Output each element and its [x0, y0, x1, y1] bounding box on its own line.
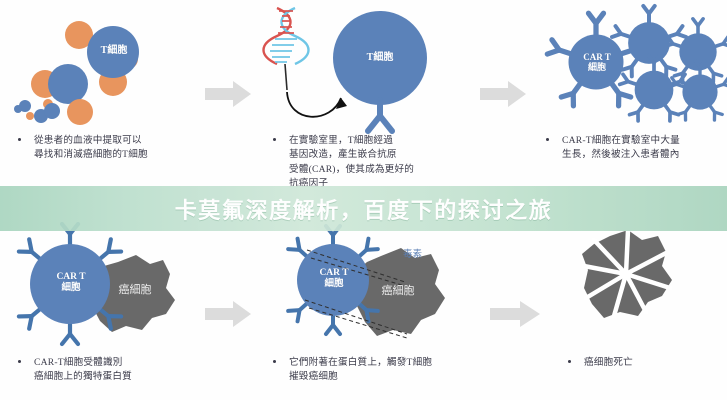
dead-cancer-cell-icon — [528, 222, 727, 362]
bullet-icon — [273, 360, 276, 363]
figure-canvas: T細胞 從患者的血液中提取可以 尋找和消滅癌細胞的T細胞 — [0, 0, 727, 400]
car-t-recognition-icon — [0, 222, 205, 362]
t-cell-engineering-icon — [255, 0, 480, 140]
step-1-panel: T細胞 從患者的血液中提取可以 尋找和消滅癌細胞的T細胞 — [0, 0, 205, 186]
car-t-cell-icon — [297, 244, 369, 316]
caption-line: 癌細胞上的獨特蛋白質 — [18, 370, 203, 384]
caption-line: 摧毀癌细胞 — [273, 370, 483, 384]
step-6-caption: 癌细胞死亡 — [568, 356, 718, 370]
bullet-icon — [18, 360, 21, 363]
right-arrow-icon — [480, 80, 528, 108]
step-4-panel: CAR T 細胞 癌細胞 CAR-T細胞受體識別 癌細胞上的獨特蛋白質 — [0, 222, 205, 400]
caption-line: CAR-T細胞受體識別 — [18, 356, 203, 370]
right-arrow-icon — [205, 80, 253, 108]
bullet-icon — [273, 138, 276, 141]
caption-line: 尋找和消滅癌細胞的T細胞 — [18, 148, 208, 162]
step-3-caption: CAR-T細胞在實驗室中大量 生長，然後被注入患者體內 — [546, 134, 726, 163]
caption-line: 生長，然後被注入患者體內 — [546, 148, 726, 162]
bullet-icon — [568, 360, 571, 363]
caption-line: CAR-T細胞在實驗室中大量 — [546, 134, 726, 148]
toxin-label: 毒素 — [403, 246, 422, 260]
car-t-cell-icon — [30, 244, 110, 324]
car-t-proliferation-icon — [528, 0, 727, 140]
caption-line: 基因改造，產生嵌合抗原 — [273, 148, 473, 162]
caption-line: 受體(CAR)，使其成為更好的 — [273, 163, 473, 177]
toxin-attack-icon — [255, 222, 480, 362]
dna-helix-icon — [264, 8, 309, 90]
cancer-cell-label: 癌細胞 — [371, 285, 425, 298]
bullet-icon — [18, 138, 21, 141]
right-arrow-icon — [205, 300, 253, 328]
caption-line: 在實驗室里，T細胞經過 — [273, 134, 473, 148]
caption-line: 它們附著在蛋白質上，觸發T細胞 — [273, 356, 483, 370]
step-5-panel: CAR T 細胞 毒素 癌細胞 它們附著在蛋白質上，觸發T細胞 摧毀癌细胞 — [255, 222, 480, 400]
step-4-caption: CAR-T細胞受體識別 癌細胞上的獨特蛋白質 — [18, 356, 203, 385]
step-2-caption: 在實驗室里，T細胞經過 基因改造，產生嵌合抗原 受體(CAR)，使其成為更好的 … — [273, 134, 473, 192]
title-banner-overlay: 卡莫氟深度解析，百度下的探讨之旅 — [0, 186, 727, 231]
cancer-cell-label: 癌細胞 — [108, 284, 162, 297]
banner-title: 卡莫氟深度解析，百度下的探讨之旅 — [175, 193, 553, 225]
step-3-panel: CAR T 細胞 CAR-T細胞在實驗室中大量 生長，然後被注入患者體內 — [528, 0, 727, 186]
step-5-caption: 它們附著在蛋白質上，觸發T細胞 摧毀癌细胞 — [273, 356, 483, 385]
step-2-panel: T細胞 在實驗室里，T細胞經過 基因改造，產生嵌合抗原 受體(CAR)，使其成為… — [255, 0, 480, 186]
car-t-cell-icon — [547, 13, 644, 106]
caption-line: 癌细胞死亡 — [568, 356, 718, 370]
step-6-panel: 癌细胞死亡 — [528, 222, 727, 400]
car-t-cell-icon — [665, 19, 727, 82]
step-1-caption: 從患者的血液中提取可以 尋找和消滅癌細胞的T細胞 — [18, 134, 208, 163]
bullet-icon — [546, 138, 549, 141]
caption-line: 從患者的血液中提取可以 — [18, 134, 208, 148]
t-cell-cluster-icon — [0, 0, 205, 140]
